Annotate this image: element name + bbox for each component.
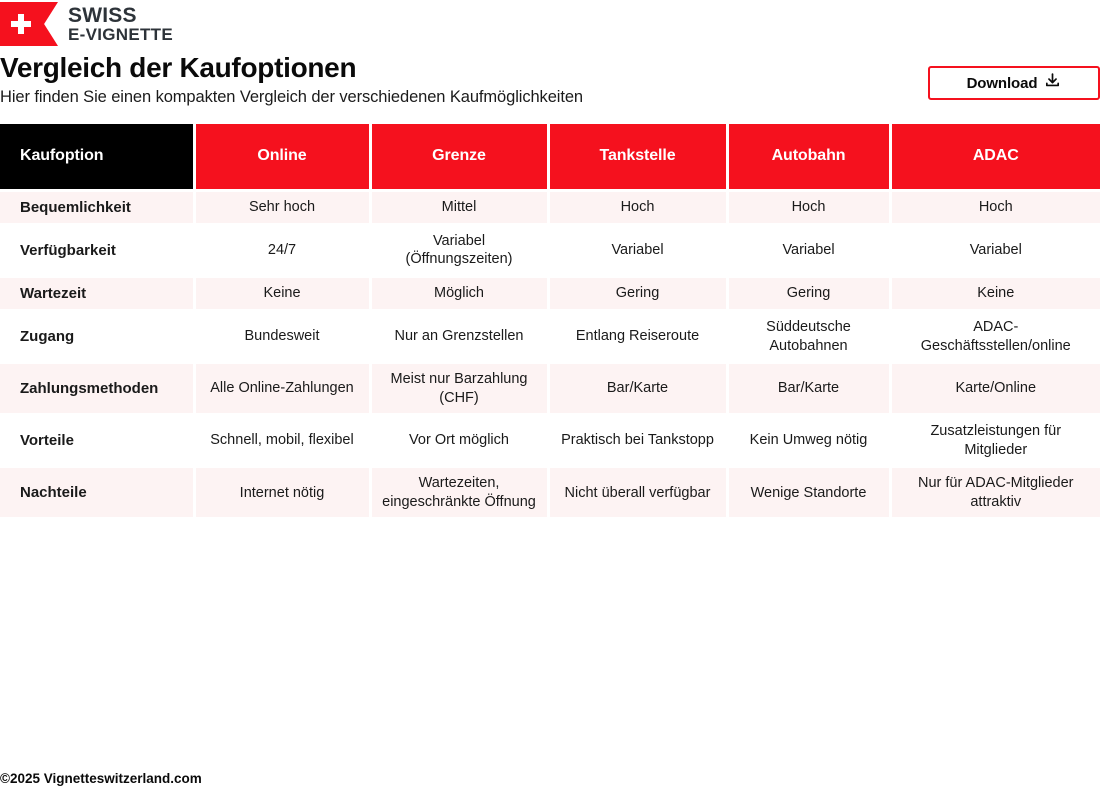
cell-bequemlichkeit-online: Sehr hoch [194,190,370,224]
cell-bequemlichkeit-tankstelle: Hoch [548,190,727,224]
table-row: Nachteile Internet nötig Wartezeiten, ei… [0,467,1100,519]
cell-vorteile-adac: Zusatzleistungen für Mitglieder [890,415,1100,467]
cell-nachteile-tankstelle: Nicht überall verfügbar [548,467,727,519]
brand-wordmark: SWISS E-VIGNETTE [68,5,173,44]
table-row: Zahlungsmethoden Alle Online-Zahlungen M… [0,363,1100,415]
cell-verfuegbarkeit-adac: Variabel [890,224,1100,276]
brand-line-1: SWISS [68,5,173,26]
table-head: Kaufoption Online Grenze Tankstelle Auto… [0,124,1100,190]
column-header-adac: ADAC [890,124,1100,190]
table-row: Wartezeit Keine Möglich Gering Gering Ke… [0,276,1100,310]
column-header-tankstelle: Tankstelle [548,124,727,190]
swiss-cross-icon [10,13,32,35]
cell-verfuegbarkeit-online: 24/7 [194,224,370,276]
table-row: Bequemlichkeit Sehr hoch Mittel Hoch Hoc… [0,190,1100,224]
cell-wartezeit-online: Keine [194,276,370,310]
cell-vorteile-grenze: Vor Ort möglich [370,415,548,467]
cell-wartezeit-tankstelle: Gering [548,276,727,310]
table-row: Verfügbarkeit 24/7 Variabel (Öffnungszei… [0,224,1100,276]
cell-zugang-tankstelle: Entlang Reiseroute [548,310,727,362]
page-root: SWISS E-VIGNETTE Vergleich der Kaufoptio… [0,0,1100,792]
cell-zahlungsmethoden-tankstelle: Bar/Karte [548,363,727,415]
cell-verfuegbarkeit-autobahn: Variabel [727,224,890,276]
row-label-zugang: Zugang [0,310,194,362]
cell-wartezeit-autobahn: Gering [727,276,890,310]
cell-verfuegbarkeit-tankstelle: Variabel [548,224,727,276]
cell-zugang-autobahn: Süddeutsche Autobahnen [727,310,890,362]
cell-bequemlichkeit-adac: Hoch [890,190,1100,224]
cell-bequemlichkeit-autobahn: Hoch [727,190,890,224]
table-header-row: Kaufoption Online Grenze Tankstelle Auto… [0,124,1100,190]
cell-zugang-grenze: Nur an Grenzstellen [370,310,548,362]
cell-zahlungsmethoden-online: Alle Online-Zahlungen [194,363,370,415]
column-header-autobahn: Autobahn [727,124,890,190]
cell-vorteile-autobahn: Kein Umweg nötig [727,415,890,467]
cell-zahlungsmethoden-grenze: Meist nur Barzahlung (CHF) [370,363,548,415]
column-header-kaufoption: Kaufoption [0,124,194,190]
title-block: Vergleich der Kaufoptionen Hier finden S… [0,48,1100,120]
comparison-table: Kaufoption Online Grenze Tankstelle Auto… [0,124,1100,520]
brand-line-2: E-VIGNETTE [68,26,173,43]
cell-vorteile-online: Schnell, mobil, flexibel [194,415,370,467]
row-label-bequemlichkeit: Bequemlichkeit [0,190,194,224]
table-body: Bequemlichkeit Sehr hoch Mittel Hoch Hoc… [0,190,1100,519]
download-button[interactable]: Download [928,66,1100,100]
cell-zahlungsmethoden-adac: Karte/Online [890,363,1100,415]
brand-bar: SWISS E-VIGNETTE [0,0,1100,48]
cell-nachteile-autobahn: Wenige Standorte [727,467,890,519]
cell-zahlungsmethoden-autobahn: Bar/Karte [727,363,890,415]
cell-zugang-adac: ADAC-Geschäftsstellen/online [890,310,1100,362]
footer-copyright: ©2025 Vignetteswitzerland.com [0,771,202,786]
swiss-flag-icon [0,2,58,46]
cell-bequemlichkeit-grenze: Mittel [370,190,548,224]
download-button-label: Download [967,75,1038,92]
cell-zugang-online: Bundesweit [194,310,370,362]
download-icon [1044,72,1061,94]
table-row: Vorteile Schnell, mobil, flexibel Vor Or… [0,415,1100,467]
table-row: Zugang Bundesweit Nur an Grenzstellen En… [0,310,1100,362]
cell-wartezeit-adac: Keine [890,276,1100,310]
row-label-vorteile: Vorteile [0,415,194,467]
cell-nachteile-online: Internet nötig [194,467,370,519]
cell-nachteile-adac: Nur für ADAC-Mitglieder attraktiv [890,467,1100,519]
cell-wartezeit-grenze: Möglich [370,276,548,310]
cell-vorteile-tankstelle: Praktisch bei Tankstopp [548,415,727,467]
row-label-wartezeit: Wartezeit [0,276,194,310]
row-label-nachteile: Nachteile [0,467,194,519]
row-label-zahlungsmethoden: Zahlungsmethoden [0,363,194,415]
column-header-online: Online [194,124,370,190]
column-header-grenze: Grenze [370,124,548,190]
cell-nachteile-grenze: Wartezeiten, eingeschränkte Öffnung [370,467,548,519]
row-label-verfuegbarkeit: Verfügbarkeit [0,224,194,276]
cell-verfuegbarkeit-grenze: Variabel (Öffnungszeiten) [370,224,548,276]
